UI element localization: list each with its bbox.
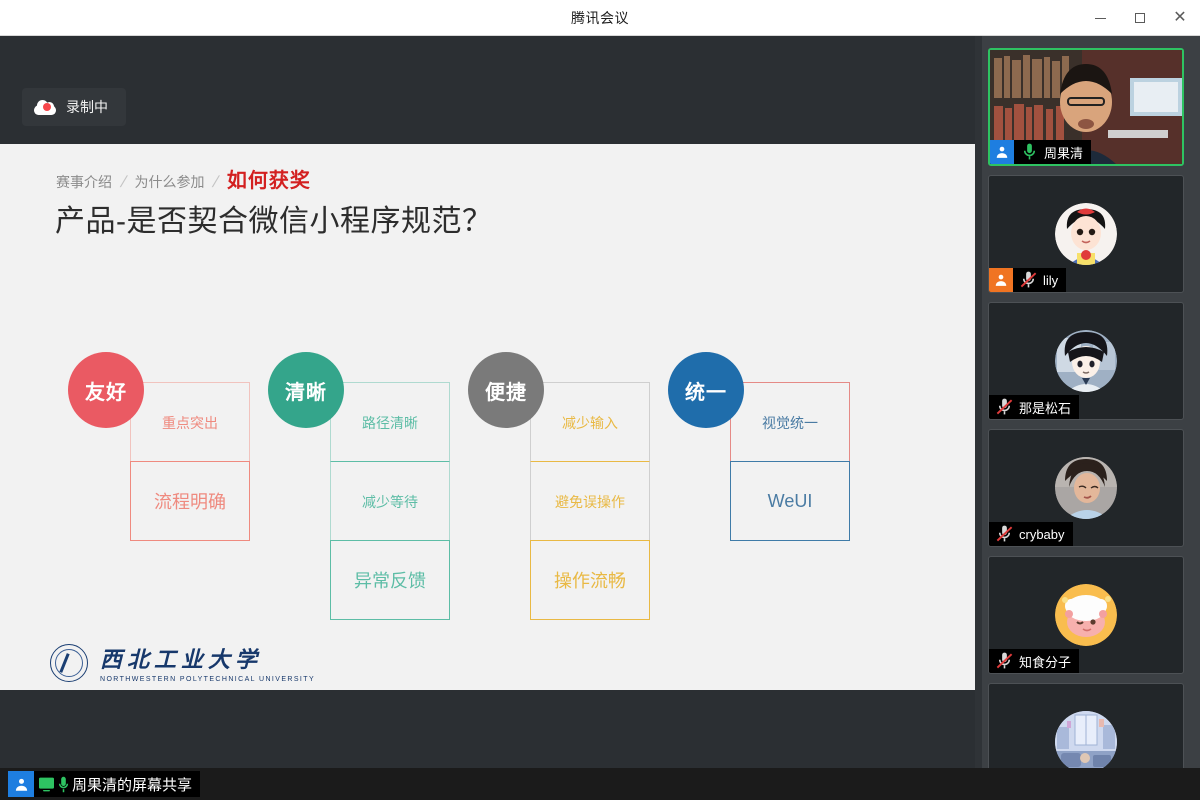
participant-label: 周果清 [990,140,1091,164]
participant-tile[interactable]: 那是松石 [988,302,1184,420]
participant-name: lily [1043,273,1058,288]
participant-tile[interactable]: 周果清 [988,48,1184,166]
cloud-recording-icon [34,100,56,115]
minimize-button[interactable] [1080,0,1120,36]
participant-name: 周果清 [1044,143,1083,162]
microphone-muted-icon [1019,270,1039,290]
participant-tile[interactable]: crybaby [988,429,1184,547]
microphone-muted-icon [995,651,1015,671]
university-seal-icon [50,644,88,682]
column-cell: WeUI [730,461,850,541]
participant-tile[interactable]: 知食分子 [988,556,1184,674]
meeting-body: 录制中 赛事介绍 / 为什么参加 / 如何获奖 产品-是否契合微信小程序规范？ … [0,36,1200,800]
column-cell: 重点突出 [130,382,250,462]
university-logo: 西北工业大学 NORTHWESTERN POLYTECHNICAL UNIVER… [50,642,420,683]
recording-label: 录制中 [66,97,108,117]
participant-label: 知食分子 [989,649,1079,673]
microphone-icon [57,776,70,793]
recording-bar: 录制中 [0,36,975,144]
participant-label: crybaby [989,522,1073,546]
participant-name: 知食分子 [1019,652,1071,671]
participant-label: 那是松石 [989,395,1079,419]
share-area-bottom [0,690,975,768]
person-icon [990,140,1014,164]
participant-rail[interactable]: 周果清 lily 那是松石 [982,36,1200,800]
window-title: 腾讯会议 [571,8,629,28]
university-name-en: NORTHWESTERN POLYTECHNICAL UNIVERSITY [100,676,315,683]
microphone-icon [1020,142,1040,162]
university-name-cn: 西北工业大学 [100,642,315,674]
title-bar: 腾讯会议 ✕ [0,0,1200,36]
column-cell: 视觉统一 [730,382,850,462]
avatar [1055,711,1117,773]
window-controls: ✕ [1080,0,1200,36]
avatar [1055,457,1117,519]
person-icon [989,268,1013,292]
microphone-muted-icon [995,524,1015,544]
close-button[interactable]: ✕ [1160,0,1200,36]
column-cell: 异常反馈 [330,540,450,620]
microphone-muted-icon [995,397,1015,417]
column-circle-label: 友好 [68,352,144,428]
avatar [1055,584,1117,646]
person-icon [8,771,34,797]
shared-screen-area[interactable]: 录制中 赛事介绍 / 为什么参加 / 如何获奖 产品-是否契合微信小程序规范？ … [0,36,975,768]
participant-name: 那是松石 [1019,398,1071,417]
participant-tile[interactable]: lily [988,175,1184,293]
avatar [1055,203,1117,265]
column-cell: 流程明确 [130,461,250,541]
column-cell-stack: 路径清晰减少等待异常反馈 [330,382,450,620]
recording-badge[interactable]: 录制中 [22,88,126,126]
column-circle-label: 统一 [668,352,744,428]
screen-share-chip[interactable]: 周果清的屏幕共享 [8,771,200,797]
column-cell: 减少输入 [530,382,650,462]
slide-columns: 友好重点突出流程明确清晰路径清晰减少等待异常反馈便捷减少输入避免误操作操作流畅统… [0,144,975,690]
column-cell: 操作流畅 [530,540,650,620]
status-bar: 周果清的屏幕共享 [0,768,1200,800]
column-cell-stack: 视觉统一WeUI [730,382,850,541]
column-cell: 减少等待 [330,461,450,541]
column-circle-label: 便捷 [468,352,544,428]
screen-share-icon [38,777,55,792]
maximize-button[interactable] [1120,0,1160,36]
participant-label: lily [989,268,1066,292]
column-cell-stack: 减少输入避免误操作操作流畅 [530,382,650,620]
tencent-meeting-window: 腾讯会议 ✕ 录制中 赛事介绍 / 为什么参加 [0,0,1200,800]
column-cell: 路径清晰 [330,382,450,462]
presentation-slide: 赛事介绍 / 为什么参加 / 如何获奖 产品-是否契合微信小程序规范？ 友好重点… [0,144,975,690]
column-cell-stack: 重点突出流程明确 [130,382,250,541]
column-cell: 避免误操作 [530,461,650,541]
participant-name: crybaby [1019,527,1065,542]
screen-share-label: 周果清的屏幕共享 [72,774,200,795]
avatar [1055,330,1117,392]
column-circle-label: 清晰 [268,352,344,428]
